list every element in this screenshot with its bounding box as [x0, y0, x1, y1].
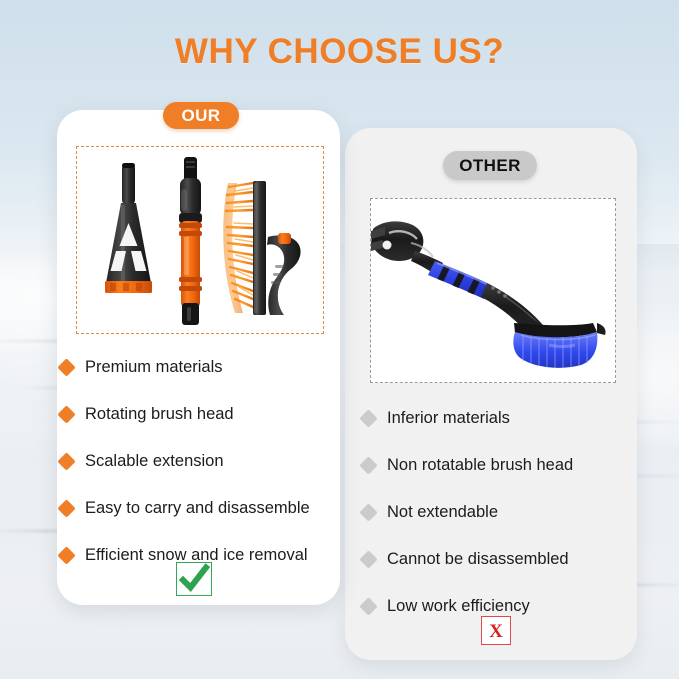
list-item: Rotating brush head	[60, 391, 340, 438]
red-cross-icon: X	[484, 619, 508, 642]
list-item: Cannot be disassembled	[362, 536, 637, 583]
svg-text:X: X	[489, 621, 503, 642]
extension-pole-piece	[179, 157, 202, 325]
brush-head-piece	[223, 181, 300, 315]
foam-grip	[428, 261, 492, 299]
brush-head	[513, 323, 605, 368]
feature-label: Premium materials	[85, 358, 223, 377]
feature-label: Low work efficiency	[387, 597, 530, 616]
diamond-bullet-icon	[359, 503, 377, 521]
verdict-cross-other: X	[481, 616, 511, 645]
diamond-bullet-icon	[57, 358, 75, 376]
ice-scraper-piece	[105, 163, 152, 293]
list-item: Scalable extension	[60, 438, 340, 485]
diamond-bullet-icon	[57, 546, 75, 564]
feature-label: Rotating brush head	[85, 405, 234, 424]
diamond-bullet-icon	[57, 405, 75, 423]
list-item: Premium materials	[60, 344, 340, 391]
diamond-bullet-icon	[359, 550, 377, 568]
product-image-other	[370, 198, 616, 383]
diamond-bullet-icon	[57, 452, 75, 470]
verdict-check-ours	[176, 562, 212, 596]
badge-ours: OUR	[163, 102, 239, 129]
product-image-ours	[76, 146, 324, 334]
badge-other: OTHER	[443, 151, 537, 180]
feature-label: Cannot be disassembled	[387, 550, 569, 569]
list-item: Inferior materials	[362, 395, 637, 442]
list-item: Easy to carry and disassemble	[60, 485, 340, 532]
feature-list-ours: Premium materials Rotating brush head Sc…	[60, 344, 340, 579]
page-title: WHY CHOOSE US?	[0, 32, 679, 72]
diamond-bullet-icon	[359, 597, 377, 615]
feature-list-other: Inferior materials Non rotatable brush h…	[362, 395, 637, 630]
feature-label: Not extendable	[387, 503, 498, 522]
diamond-bullet-icon	[359, 456, 377, 474]
feature-label: Non rotatable brush head	[387, 456, 573, 475]
list-item: Non rotatable brush head	[362, 442, 637, 489]
feature-label: Scalable extension	[85, 452, 224, 471]
feature-label: Inferior materials	[387, 409, 510, 428]
diamond-bullet-icon	[359, 409, 377, 427]
list-item: Not extendable	[362, 489, 637, 536]
green-check-icon	[179, 565, 209, 593]
diamond-bullet-icon	[57, 499, 75, 517]
feature-label: Easy to carry and disassemble	[85, 499, 310, 518]
